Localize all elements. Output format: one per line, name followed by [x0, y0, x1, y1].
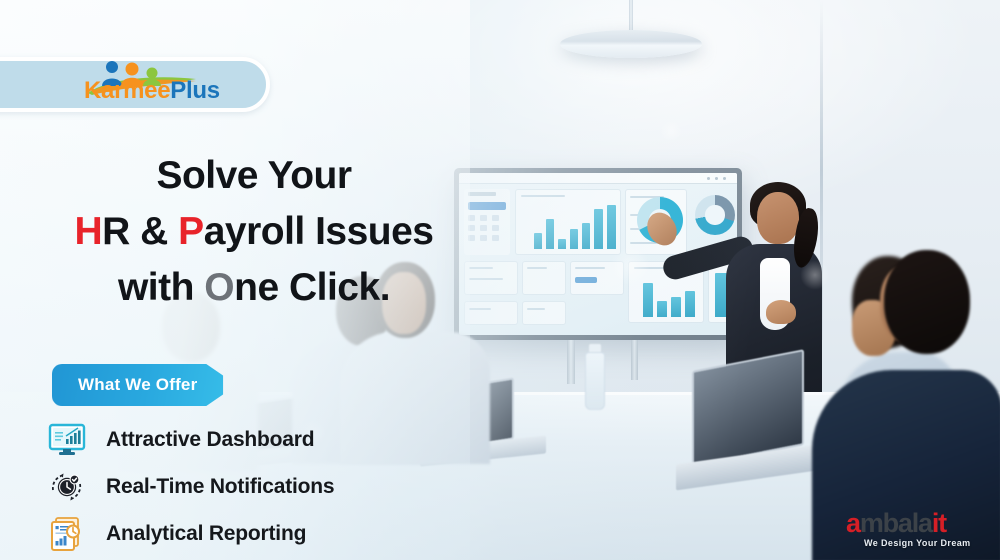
page-title: Solve Your HR & Payroll Issues with One … [44, 148, 464, 316]
headline-line-1: Solve Your [44, 148, 464, 204]
brand-name-part1: Karmee [84, 77, 170, 104]
feature-item-reporting[interactable]: Analytical Reporting [46, 510, 446, 557]
feature-label-reporting: Analytical Reporting [106, 522, 306, 546]
agency-logo-text: ambalait [846, 508, 946, 539]
brand-name: KarmeePlus [84, 77, 220, 105]
brand-logo-badge[interactable]: KarmeePlus [0, 57, 270, 112]
hero-banner: KarmeePlus Solve Your HR & Payroll Issue… [0, 0, 1000, 560]
headline-line-2: HR & Payroll Issues [44, 204, 464, 260]
feature-label-dashboard: Attractive Dashboard [106, 428, 314, 452]
brand-name-part2: Plus [170, 77, 219, 104]
agency-tagline: We Design Your Dream [864, 538, 971, 548]
what-we-offer-badge[interactable]: What We Offer [52, 364, 223, 406]
headline-accent-p: P [178, 210, 204, 253]
feature-label-notifications: Real-Time Notifications [106, 475, 334, 499]
headline-accent-o: O [204, 266, 234, 309]
headline-accent-h: H [75, 210, 103, 253]
dashboard-monitor-icon [46, 421, 88, 459]
agency-logo[interactable]: ambalait We Design Your Dream [846, 512, 992, 556]
agency-logo-part-c: it [932, 508, 946, 538]
feature-item-dashboard[interactable]: Attractive Dashboard [46, 416, 446, 463]
clock-check-icon [46, 468, 88, 506]
agency-logo-part-b: mbala [860, 508, 932, 538]
report-document-icon [46, 515, 88, 553]
headline-line-3: with One Click. [44, 260, 464, 316]
agency-logo-part-a: a [846, 508, 860, 538]
what-we-offer-label: What We Offer [78, 375, 197, 395]
feature-list: Attractive Dashboard Real-Time Notificat… [46, 416, 446, 557]
feature-item-notifications[interactable]: Real-Time Notifications [46, 463, 446, 510]
